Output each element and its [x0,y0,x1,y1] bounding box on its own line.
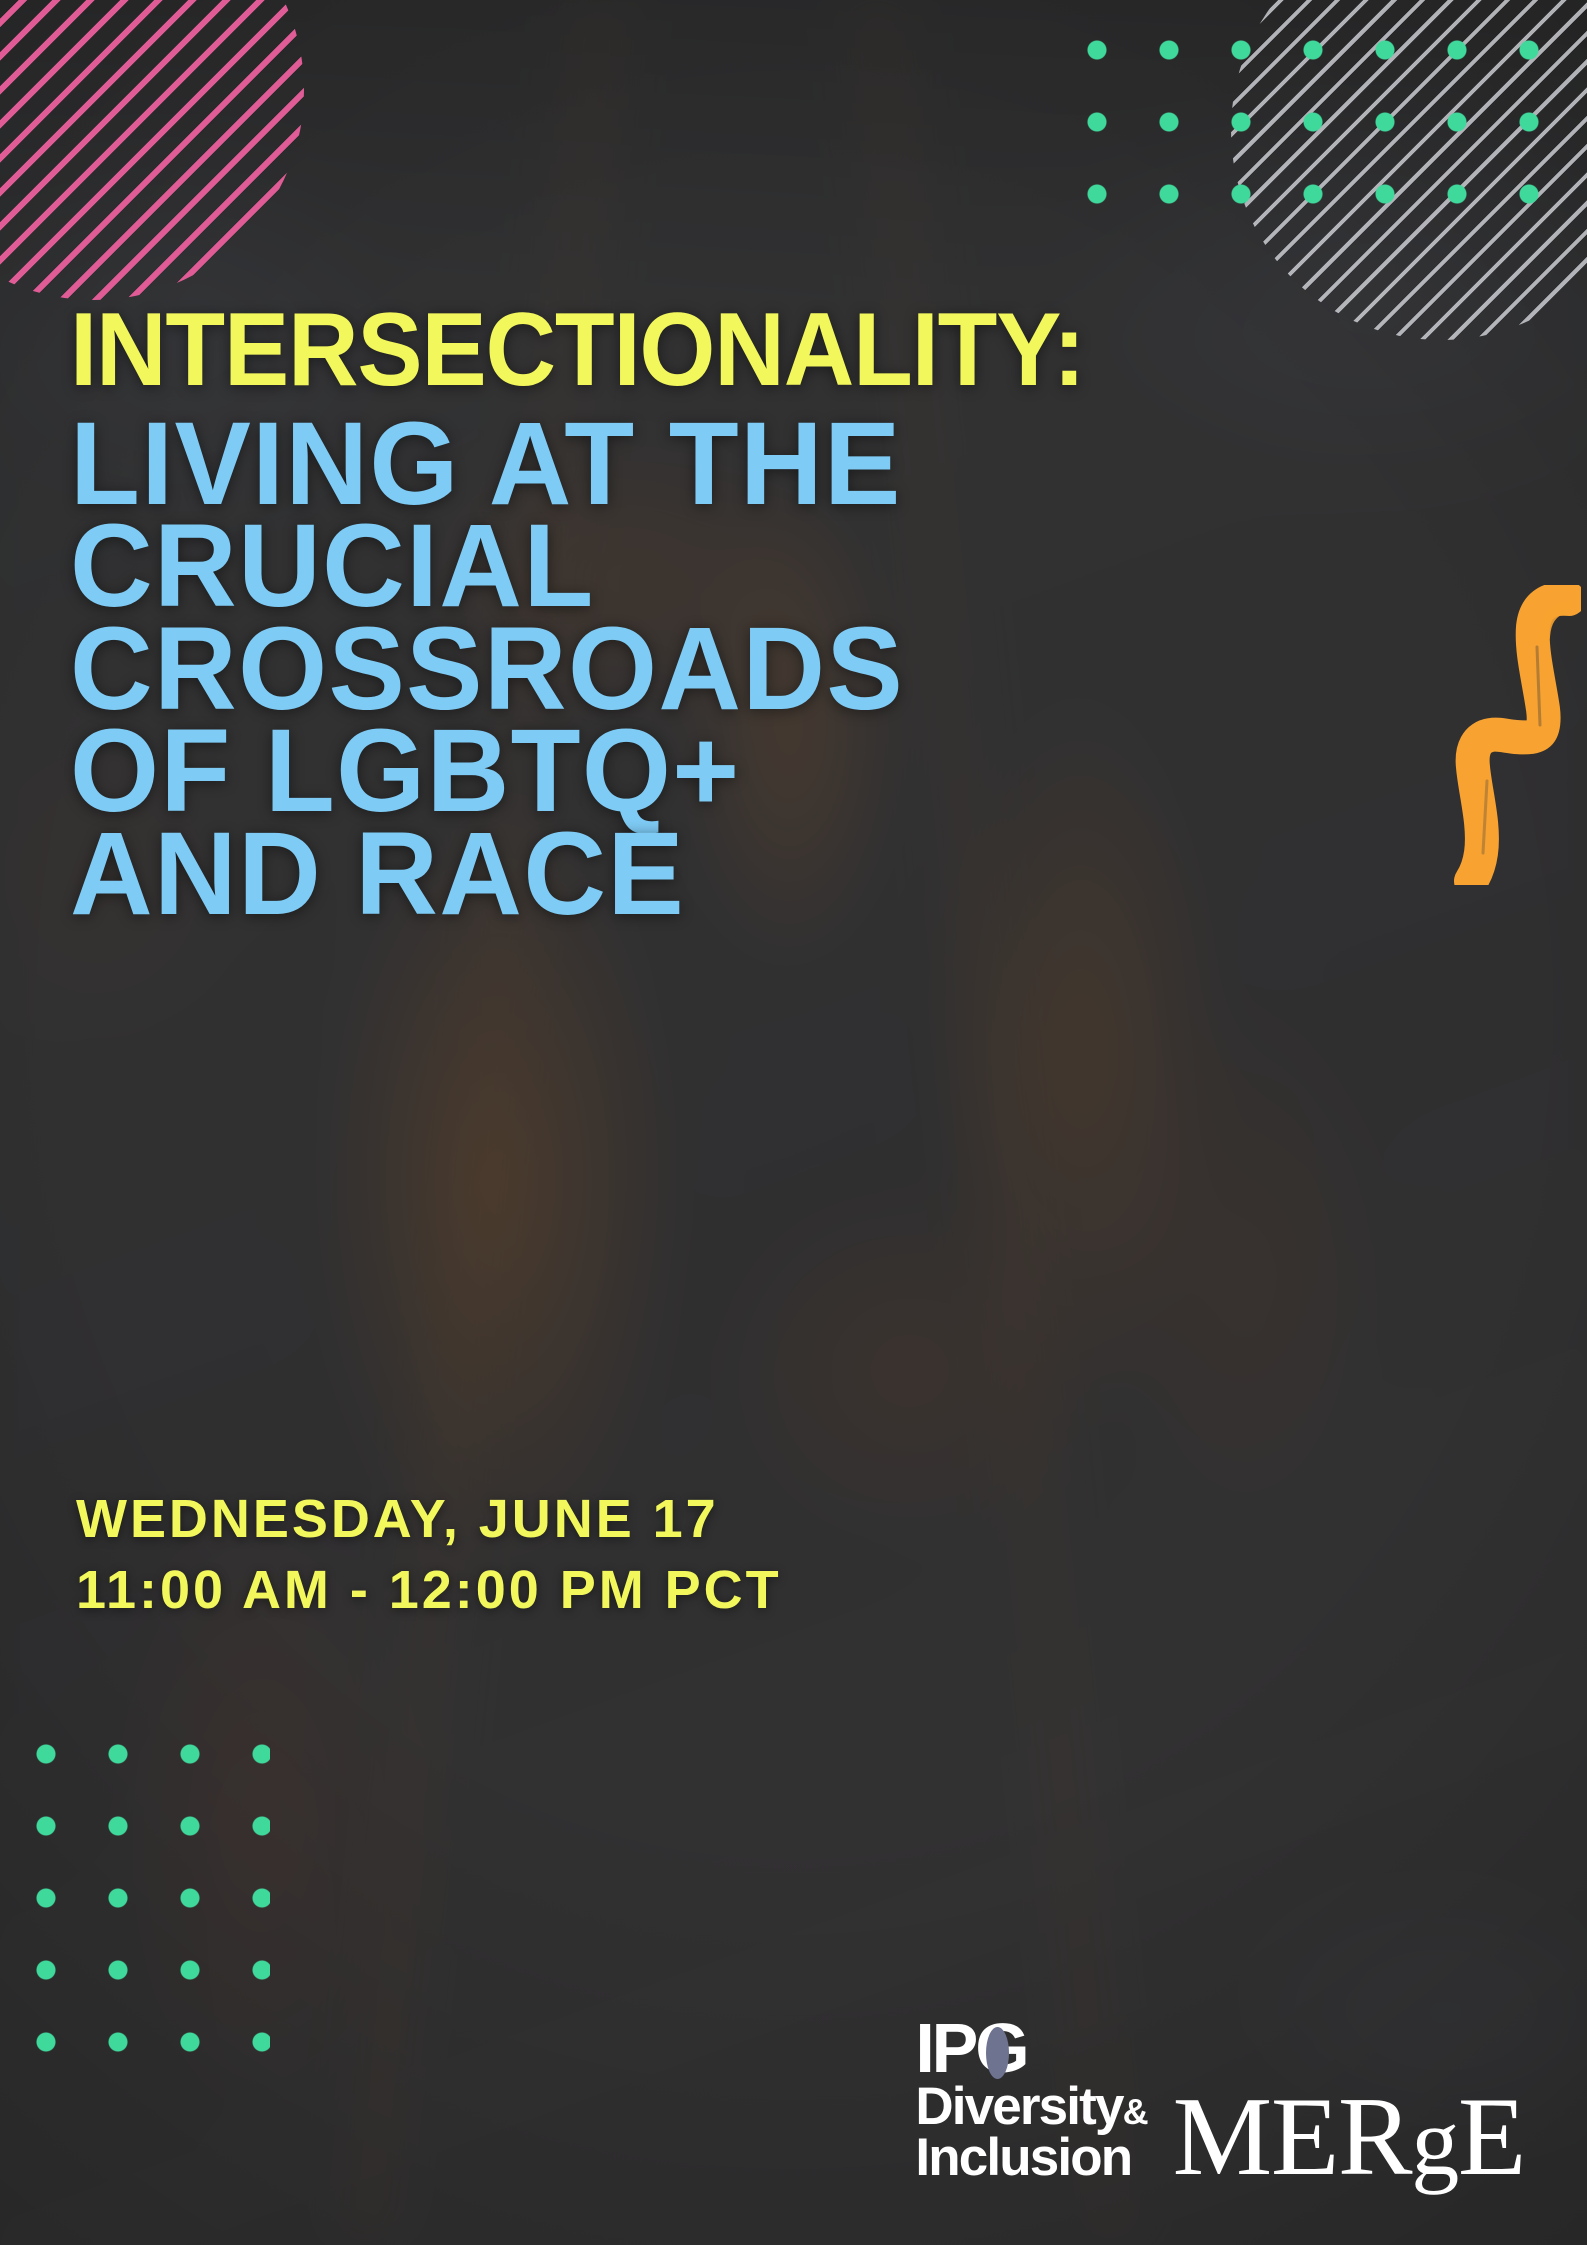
merge-logo: MERgE [1173,2087,1525,2190]
merge-part-1: MER [1173,2075,1412,2199]
ipg-sublabel-line-1: Diversity& [915,2082,1148,2133]
headline-line-1: INTERSECTIONALITY: [70,300,1029,401]
ipg-wordmark: IPG [915,2016,1148,2082]
headline-line-6: AND RACE [70,817,1059,931]
event-details: WEDNESDAY, JUNE 17 11:00 AM - 12:00 PM P… [76,1484,782,1627]
headline-block: INTERSECTIONALITY: LIVING AT THE CRUCIAL… [70,300,1090,919]
ipg-diversity-inclusion-logo: IPG Diversity& Inclusion [915,2016,1148,2190]
merge-part-3: E [1458,2075,1525,2199]
poster-content: INTERSECTIONALITY: LIVING AT THE CRUCIAL… [0,0,1587,2245]
ipg-wordmark-text: IPG [915,2009,1026,2087]
ipg-sublabel-line-2: Inclusion [915,2133,1148,2184]
event-date: WEDNESDAY, JUNE 17 [76,1484,782,1555]
event-poster: INTERSECTIONALITY: LIVING AT THE CRUCIAL… [0,0,1587,2245]
merge-part-2: g [1411,2088,1458,2195]
ipg-ampersand: & [1123,2091,1149,2132]
event-time: 11:00 AM - 12:00 PM PCT [76,1555,782,1626]
logo-row: IPG Diversity& Inclusion MERgE [0,2016,1587,2190]
